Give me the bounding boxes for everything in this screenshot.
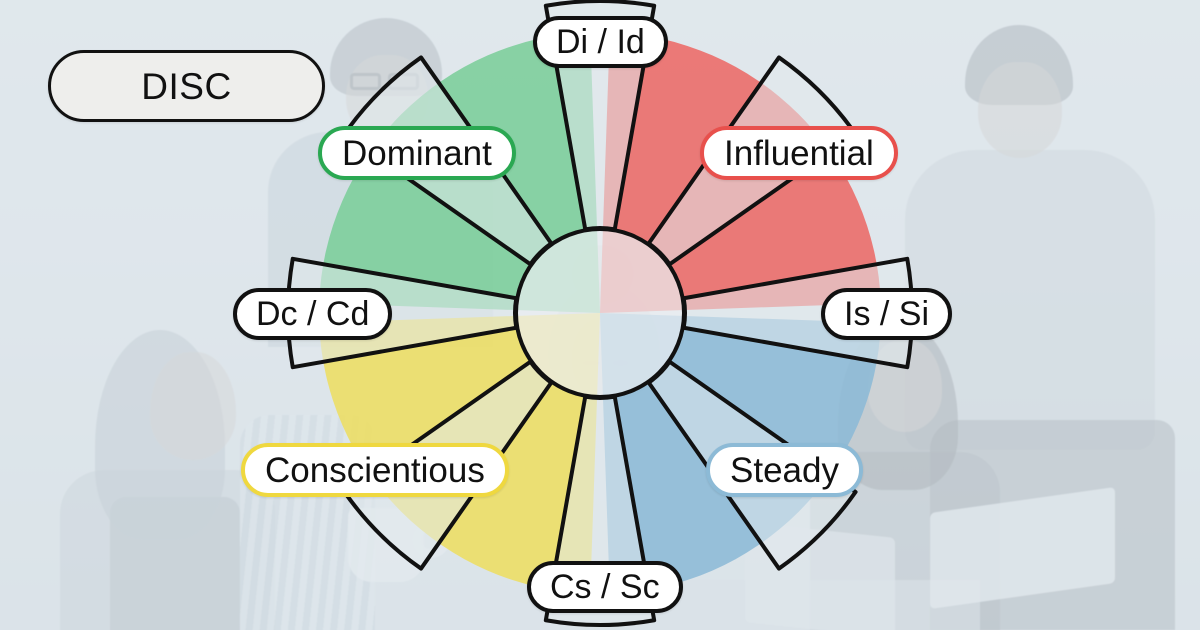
quadrant-label-steady-text: Steady: [730, 453, 839, 488]
disc-badge[interactable]: DISC: [48, 50, 325, 122]
quadrant-label-influential-text: Influential: [724, 136, 874, 171]
blend-label-is-si-text: Is / Si: [844, 297, 929, 331]
quadrant-label-influential[interactable]: Influential: [700, 126, 898, 180]
disc-badge-text: DISC: [141, 68, 231, 105]
blend-label-dc-cd-text: Dc / Cd: [256, 297, 369, 331]
blend-label-di-id[interactable]: Di / Id: [533, 16, 668, 68]
blend-label-is-si[interactable]: Is / Si: [821, 288, 952, 340]
quadrant-label-conscientious[interactable]: Conscientious: [241, 443, 509, 497]
blend-label-dc-cd[interactable]: Dc / Cd: [233, 288, 392, 340]
blend-label-di-id-text: Di / Id: [556, 25, 645, 59]
quadrant-label-steady[interactable]: Steady: [706, 443, 863, 497]
quadrant-label-dominant-text: Dominant: [342, 136, 492, 171]
quadrant-label-dominant[interactable]: Dominant: [318, 126, 516, 180]
blend-label-cs-sc[interactable]: Cs / Sc: [527, 561, 683, 613]
blend-label-cs-sc-text: Cs / Sc: [550, 570, 660, 604]
quadrant-label-conscientious-text: Conscientious: [265, 453, 485, 488]
